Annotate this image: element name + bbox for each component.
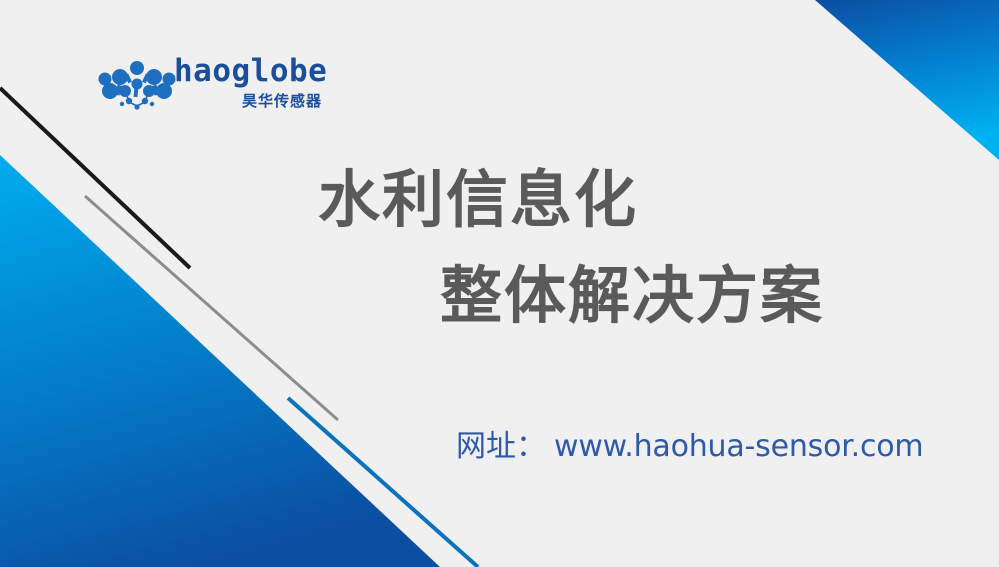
website-url[interactable]: www.haohua-sensor.com: [554, 429, 923, 464]
website-line: 网址： www.haohua-sensor.com: [456, 421, 923, 465]
blue-accent-line: [288, 398, 478, 567]
molecular-network-cluster-icon: [96, 60, 178, 116]
logo-wordmark: haoglobe: [174, 56, 327, 87]
presentation-title-slide: haoglobe 昊华传感器 水利信息化 整体解决方案 网址： www.haoh…: [0, 0, 999, 567]
company-logo: haoglobe 昊华传感器: [96, 56, 326, 126]
slide-title-line-1: 水利信息化: [318, 166, 638, 234]
slide-title-line-2: 整体解决方案: [440, 262, 824, 330]
top-right-triangle: [815, 0, 999, 160]
logo-text: haoglobe 昊华传感器: [174, 56, 324, 122]
gray-accent-line: [85, 196, 338, 420]
logo-chinese-name: 昊华传感器: [242, 94, 322, 109]
website-label: 网址：: [456, 421, 546, 465]
